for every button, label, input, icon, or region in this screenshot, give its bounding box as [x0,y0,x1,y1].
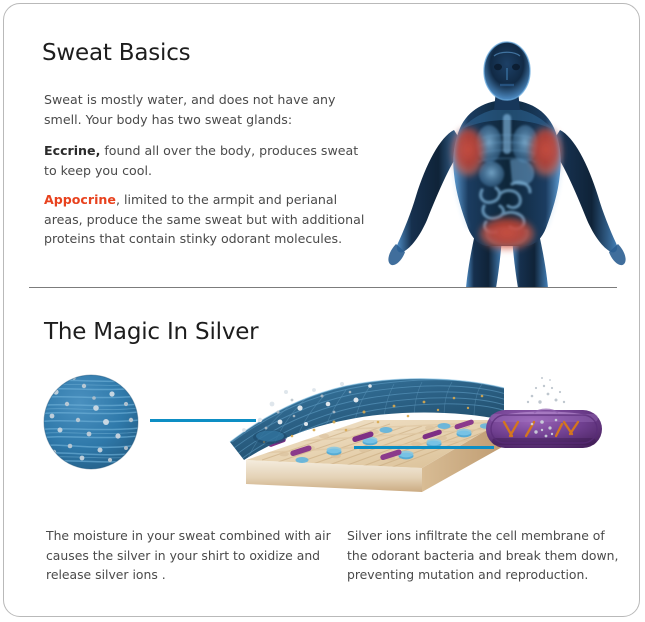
highlight-perianal [480,218,534,250]
xray-body-svg [382,38,632,288]
page-title-sweat-basics: Sweat Basics [42,40,190,66]
body-head [484,42,530,110]
silver-diagram-svg [34,364,614,499]
paragraph-eccrine: Eccrine, found all over the body, produc… [44,141,364,180]
paragraph-intro: Sweat is mostly water, and does not have… [44,90,374,129]
fabric-fold-pool-highlight [256,431,284,442]
section-divider [29,287,617,288]
term-eccrine: Eccrine, [44,143,100,158]
connector-line-left [150,419,256,422]
connector-line-right [354,446,494,449]
paragraph-appocrine: Appocrine, limited to the armpit and per… [44,190,369,249]
silver-fabric-diagram [34,364,614,499]
infographic-card: Sweat Basics Sweat is mostly water, and … [3,3,640,617]
term-appocrine: Appocrine [44,192,116,207]
caption-right: Silver ions infiltrate the cell membrane… [347,526,627,585]
fiber-closeup-circle [38,375,147,469]
caption-left: The moisture in your sweat combined with… [46,526,336,585]
page-title-magic-in-silver: The Magic In Silver [44,319,258,345]
fabric-cutaway [230,379,509,492]
bacterium-escaping-particles [527,377,565,404]
xray-human-body-illustration [382,38,632,288]
